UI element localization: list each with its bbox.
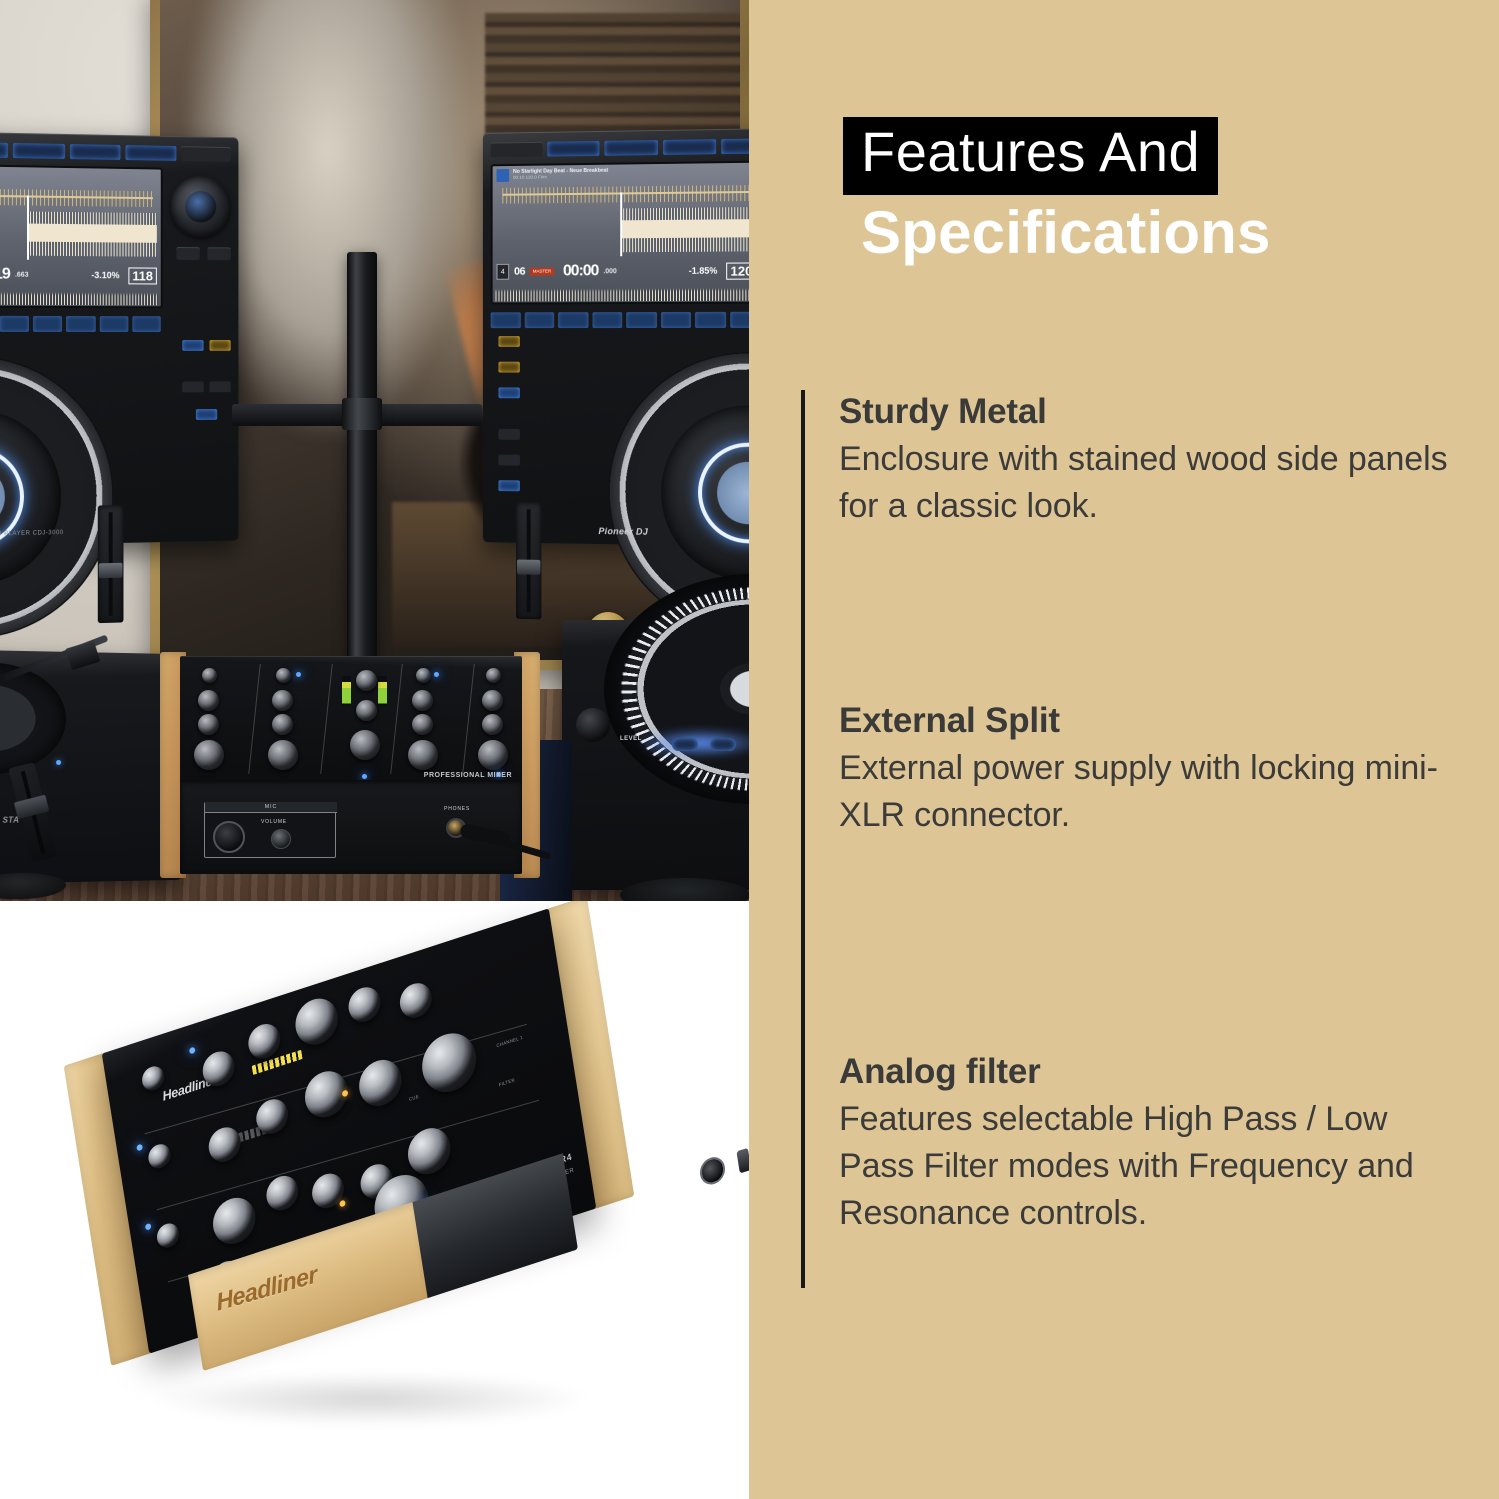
cdj-right-pad-2 [524,312,554,328]
mixer-scene-divider-2 [320,664,333,774]
mixer-scene-ch2-high [272,690,293,711]
cdj-left-master-button [209,340,230,351]
sta-brand-label: mixars STA [0,815,19,825]
cdj-left-playhead [27,195,29,259]
photo-dj-booth-scene: Radio With U 00:19 122.0 Am 3 01 MASTER … [0,0,749,901]
cdj-right-master-tag: MASTER [530,268,554,276]
cdj-right-search-button [498,455,519,466]
cdj-left-pitch: -3.10% [91,270,119,280]
mixer-scene-divider-1 [248,664,261,774]
mixer-scene-vu-right [378,676,387,706]
product-ch2-filter [356,1054,405,1112]
cdj-right-phrase-waveform [496,284,749,302]
mixer-scene-volume-label: VOLUME [261,819,287,825]
product-label-filter: FILTER [498,1077,515,1087]
mixer-scene-master-level [350,730,380,760]
mixer-scene-xlr-input [213,821,245,853]
header-title-box: Features And [843,117,1218,195]
product-ch2-high [206,1123,243,1166]
cdj-left-track-search-button [182,381,203,392]
product-front-logo: Headliner [215,1261,319,1318]
cdj-button-search [69,144,120,160]
mixer-scene-ch1-trim [202,668,217,683]
cdj-left-pad-4 [0,316,29,332]
cdj-right-time-ms: .000 [603,268,616,275]
cdj-right-hot-cue-pads [491,312,749,328]
cdj-left-search-button [209,381,230,392]
left-image-column: Radio With U 00:19 122.0 Am 3 01 MASTER … [0,0,749,1499]
cdj-button-menu [181,146,231,162]
turntable-right-level-label: LEVEL [620,736,642,742]
cdj-right-pad-8 [730,312,749,328]
cdj-right-track-sub: 00:10 120.0 F#m [513,174,608,181]
mixer-scene-ch1-level [194,740,224,770]
mixer-scene-ch3-high [412,690,433,711]
cdj-right-button-browse [547,140,599,156]
mixer-scene-mic-plate: MIC VOLUME [204,802,336,858]
product-cue-led-2 [339,1200,346,1208]
mixer-scene-mic-label: MIC [205,802,337,813]
cdj-right-time: 00:00 [563,262,598,280]
feature-1-body: Enclosure with stained wood side panels … [839,436,1469,530]
cdj-button-tag [125,145,175,161]
mixer-scene-ch4-mid [482,714,503,735]
cdj-left-top-buttons [0,136,235,166]
sta-power-led [56,760,61,765]
mixer-r4-in-scene: PROFESSIONAL MIXER MIC VOLUME PHONES [160,652,540,878]
cdj-left-pad-8 [132,316,161,332]
turntable-right-button-45 [710,738,736,751]
cdj-right-pad-5 [626,312,656,328]
mixer-scene-booth-knob [356,700,377,721]
cdj-right-pad-6 [660,312,691,328]
cdj-left-screen: Radio With U 00:19 122.0 Am 3 01 MASTER … [0,163,163,308]
mixer-scene-mic-volume-knob [271,829,291,849]
cdj-left-hot-cue-pads [0,316,161,332]
features-vertical-rule [801,390,805,1288]
mixer-scene-ch1-high [198,690,219,711]
monitor-stand-pole [347,252,377,672]
mixer-scene-top-panel: PROFESSIONAL MIXER [180,656,522,784]
cdj-right-cue-number: 4 [497,264,510,280]
cdj-right-reverse-button [498,336,519,347]
feature-item-sturdy-metal: Sturdy Metal Enclosure with stained wood… [839,390,1469,530]
mixer-scene-ch1-mid [198,714,219,735]
mixer-scene-divider-3 [390,664,403,774]
feature-2-title: External Split [839,699,1469,743]
cdj-right-pad-3 [558,312,588,328]
product-mixer: Headliner R4 PROFESSIONAL MIXER [96,953,656,1453]
sta-pitch-fader [9,762,58,862]
mixer-scene-ch4-level [478,740,508,770]
product-label-cue: CUE [409,1094,420,1102]
cdj-right-track-search-button [498,429,519,440]
turntable-right-foot [620,878,749,901]
turntable-mixars-sta: mixars STA [0,650,181,884]
header-title-line1: Features And [861,119,1200,185]
cdj-player-left: Radio With U 00:19 122.0 Am 3 01 MASTER … [0,130,238,547]
mixer-scene-ch3-led [434,672,439,677]
turntable-right: LEVEL [562,620,749,890]
cdj-left-play-pause-button [196,409,217,420]
cdj-right-button-playlist [605,140,658,156]
cdj-right-beat-sync-button [498,387,519,398]
cdj-right-top-buttons [487,132,749,161]
cdj-left-time: 03:19 [0,265,10,283]
cdj-button-browse [0,141,8,157]
photo-product-r4-mixer: Headliner R4 PROFESSIONAL MIXER [0,901,749,1499]
cdj-left-back-button [208,247,231,260]
mixer-scene-front-panel: MIC VOLUME PHONES [180,780,522,874]
cdj-right-screen: No Starlight Day Beat - Neue Breakbeat 0… [491,161,749,305]
product-ch2-trim [147,1141,173,1171]
product-booth-knob [405,1122,454,1180]
turntable-right-button-33 [672,738,698,751]
product-label-channel-1: CHANNEL 1 [496,1035,523,1049]
cdj-left-beat-sync-button [182,340,203,351]
cdj-left-time-ms: .663 [15,271,29,278]
mixer-scene-ch3-level [408,740,438,770]
cdj-right-deck-number: 06 [514,266,525,278]
cdj-right-button-source [491,141,543,157]
mixer-scene-ch3-mid [412,714,433,735]
features-list: Sturdy Metal Enclosure with stained wood… [749,386,1499,1296]
cdj-right-play-pause-button [498,480,519,491]
mixer-scene-ch2-mid [272,714,293,735]
mixer-scene-ch4-high [482,690,503,711]
turntable-right-torque-knob [576,708,610,742]
cdj-right-button-search [663,139,716,155]
mixer-scene-divider-4 [462,664,475,774]
mixer-scene-ch3-trim [416,668,431,683]
product-ch1-led [189,1047,196,1055]
mixer-scene-ch2-trim [276,668,291,683]
product-ch2-led [136,1144,143,1152]
cdj-right-tempo-fader [516,502,541,619]
feature-item-external-split: External Split External power supply wit… [839,699,1469,839]
product-ch3-trim [155,1220,181,1250]
right-text-panel: Features And Specifications Sturdy Metal… [749,0,1499,1499]
mixer-scene-ch2-led [296,672,301,677]
cdj-player-right: No Starlight Day Beat - Neue Breakbeat 0… [483,127,749,548]
product-front-switch [736,1148,749,1174]
feature-3-body: Features selectable High Pass / Low Pass… [839,1096,1469,1237]
cdj-right-brand-label: Pioneer DJ [598,526,648,537]
cdj-right-slip-button [498,362,519,373]
feature-3-title: Analog filter [839,1050,1469,1094]
product-ch3-led [145,1223,152,1231]
cdj-left-tag-track-button [176,247,199,260]
cdj-left-tempo-fader [98,505,124,623]
product-master-level [418,1026,480,1099]
cdj-right-bpm: 120 [726,262,749,279]
mixer-scene-ch2-level [268,740,298,770]
mixer-scene-vu-left [342,676,351,706]
stand-clamp-joint [342,398,382,430]
header-title-line2: Specifications [861,196,1271,270]
cdj-left-phrase-waveform [0,287,158,305]
cdj-button-playlist [13,142,65,158]
cdj-right-playhead [620,192,622,256]
cdj-right-main-waveform [620,207,749,252]
infographic-page: Radio With U 00:19 122.0 Am 3 01 MASTER … [0,0,1499,1499]
cdj-left-info-row: 3 01 MASTER 03:19 .663 -3.10% 118 [0,263,157,287]
mixer-scene-master-trim [356,670,377,691]
feature-item-analog-filter: Analog filter Features selectable High P… [839,1050,1469,1237]
cdj-right-pad-7 [695,312,726,328]
cdj-left-main-waveform [27,212,157,257]
cdj-left-pad-6 [66,316,95,332]
cdj-right-pitch: -1.85% [689,266,718,276]
feature-2-body: External power supply with locking mini-… [839,745,1469,839]
cdj-right-button-tag [721,138,749,154]
mixer-scene-filter-mode-led [362,774,367,779]
cdj-right-info-row: 4 06 MASTER 00:00 .000 -1.85% 120 [497,259,749,282]
product-ch3-high [210,1192,259,1250]
cdj-right-overview-waveform [502,185,749,204]
product-ch3-mid [264,1172,301,1215]
cdj-right-pad-4 [592,312,622,328]
feature-1-title: Sturdy Metal [839,390,1469,434]
cdj-right-screen-header: No Starlight Day Beat - Neue Breakbeat 0… [497,166,749,187]
cdj-right-artwork [497,169,510,182]
mixer-scene-phones-label: PHONES [444,806,470,812]
cdj-left-rotary-selector [171,176,231,238]
cdj-left-bpm: 118 [128,267,156,284]
cdj-left-screen-header: Radio With U 00:19 122.0 Am [0,168,157,190]
product-ch1-low [292,993,341,1051]
product-ch1-filter [346,983,383,1026]
cdj-right-pad-1 [491,312,521,328]
cdj-left-pad-7 [99,316,128,332]
mixer-scene-model-label: PROFESSIONAL MIXER [424,772,512,779]
product-headphone-jack [698,1154,727,1188]
mixer-scene-ch4-trim [486,668,501,683]
product-ch1-level [398,979,435,1022]
product-cue-led-1 [342,1089,349,1097]
cdj-left-pad-5 [33,316,62,332]
cdj-left-overview-waveform [0,188,153,207]
